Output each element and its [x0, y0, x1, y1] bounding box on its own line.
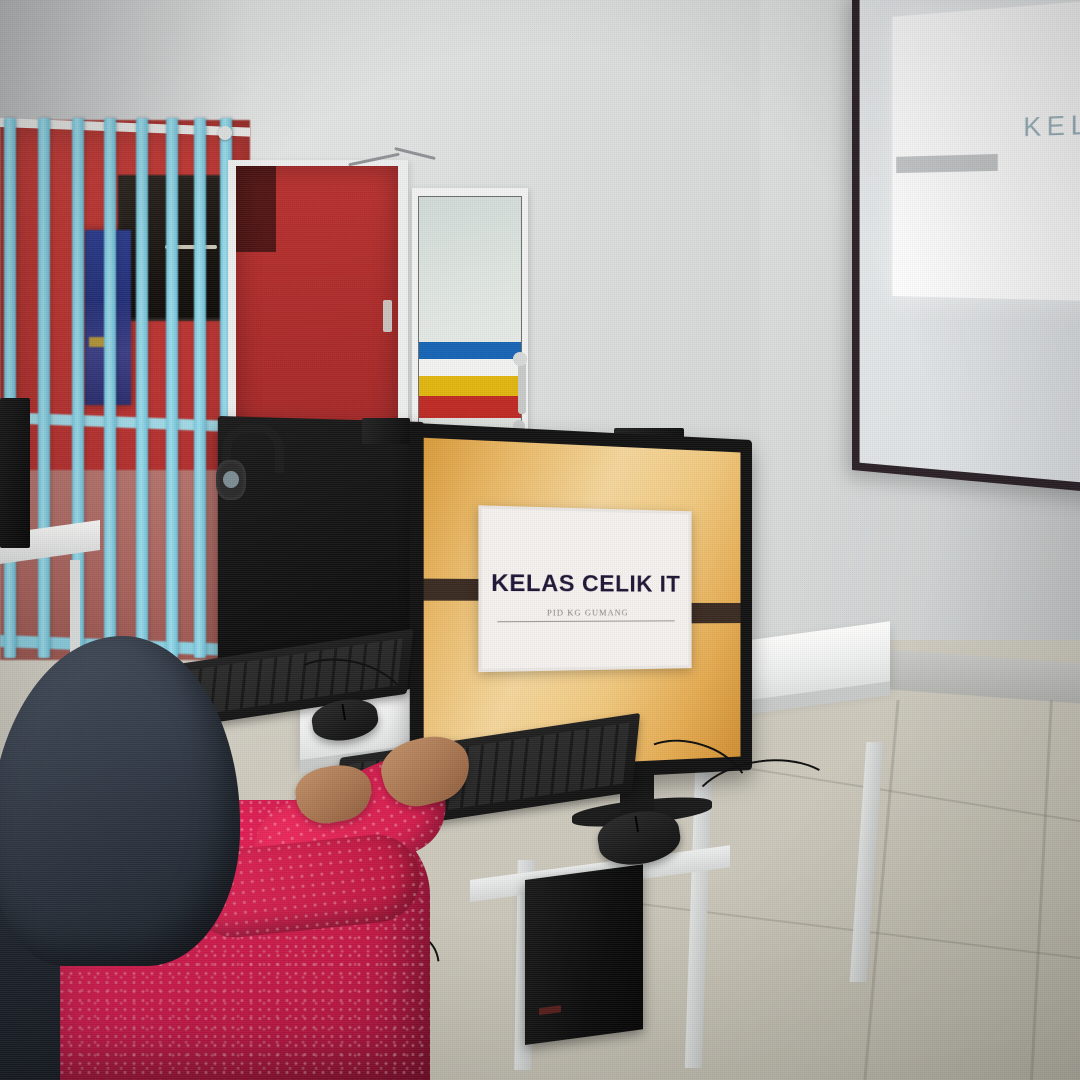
slide-title-card: KELAS CELIK IT PID KG GUMANG — [478, 505, 691, 672]
door-closer-arm — [348, 150, 432, 170]
projected-slide-title: KELAS — [1023, 108, 1080, 144]
window-stripe-white — [419, 359, 522, 376]
desktop-speaker — [362, 418, 410, 444]
window-latch[interactable] — [518, 362, 526, 414]
door-shadow — [236, 166, 276, 252]
headphone-earcup — [216, 460, 246, 500]
slide-divider — [497, 620, 674, 622]
grille-bar — [136, 118, 148, 658]
left-monitor-edge — [0, 398, 30, 548]
projected-slide: KELAS — [892, 0, 1080, 302]
window-stripe-blue — [419, 342, 522, 359]
grille-bar — [4, 118, 16, 658]
window-glass — [418, 196, 522, 430]
window-hinge-top — [513, 352, 527, 366]
window-stripe-red — [419, 396, 522, 418]
slide-subtitle: PID KG GUMANG — [482, 608, 689, 618]
grille-bar — [194, 118, 206, 658]
grille-bar — [104, 118, 116, 658]
pc-tower — [525, 864, 643, 1045]
projector-screen: KELAS — [852, 0, 1080, 494]
curtain-rod-cap — [218, 126, 232, 140]
window-stripe-yellow — [419, 376, 522, 396]
slide-accent-bar — [896, 154, 998, 173]
slide-title: KELAS CELIK IT — [482, 569, 689, 598]
headphones-icon[interactable] — [214, 424, 272, 496]
grille-bar — [38, 118, 50, 658]
door-handle[interactable] — [383, 300, 392, 332]
grille-bar — [166, 118, 178, 658]
classroom-photo-scene: KELAS KELAS CELIK IT PID KG GUMANG — [0, 0, 1080, 1080]
